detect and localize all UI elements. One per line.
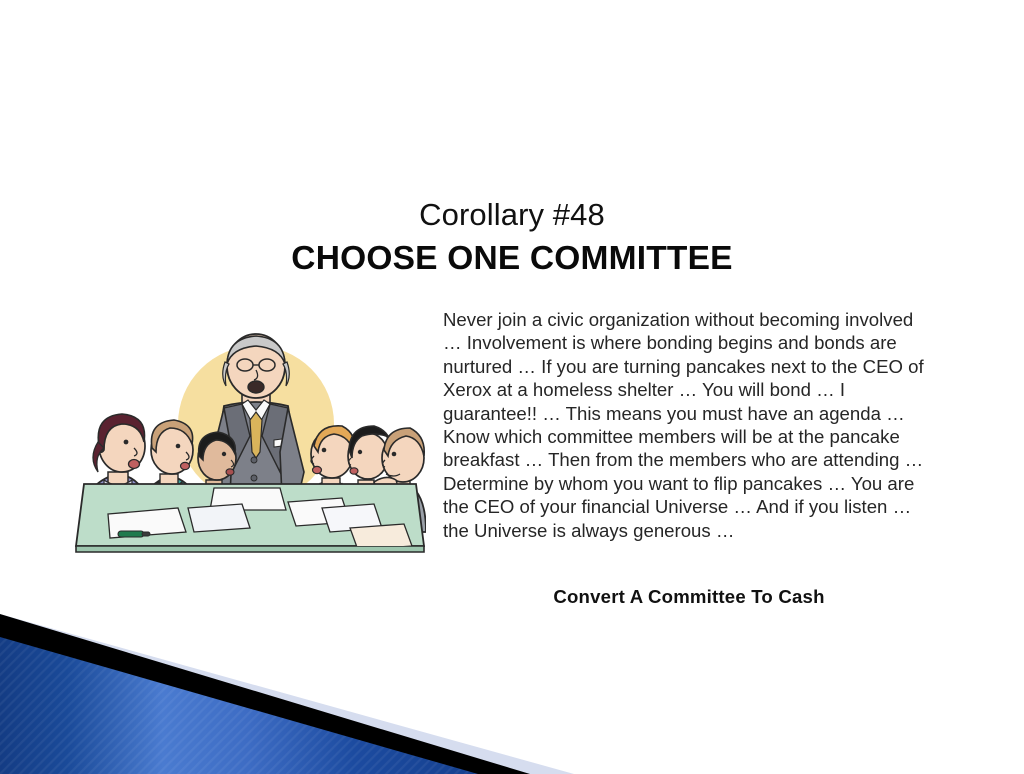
bottom-angle-banner [0,614,1024,774]
tagline-text: Convert A Committee To Cash [443,586,935,608]
committee-meeting-illustration [74,332,426,570]
slide-title-block: Corollary #48 CHOOSE ONE COMMITTEE [0,198,1024,277]
page-title-heading: CHOOSE ONE COMMITTEE [0,240,1024,278]
body-paragraph: Never join a civic organization without … [443,308,935,542]
pen-on-table [118,531,150,537]
slide-canvas: Corollary #48 CHOOSE ONE COMMITTEE [0,0,1024,774]
page-title-corollary: Corollary #48 [0,198,1024,233]
